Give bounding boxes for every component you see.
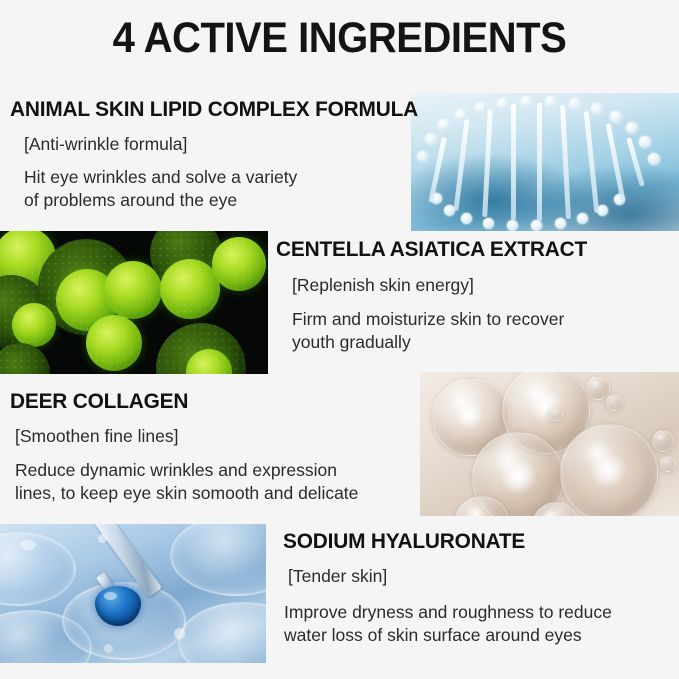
ingredient-body-4-line-1: Improve dryness and roughness to reduce bbox=[284, 601, 675, 624]
ingredient-heading-3: DEER COLLAGEN bbox=[10, 390, 408, 413]
ingredient-body-3-line-2: lines, to keep eye skin somooth and deli… bbox=[15, 482, 420, 505]
ingredient-subtitle-3: [Smoothen fine lines] bbox=[15, 427, 420, 445]
ingredient-heading-4: SODIUM HYALURONATE bbox=[283, 530, 663, 553]
ingredient-body-1-line-2: of problems around the eye bbox=[24, 189, 410, 212]
ingredient-subtitle-4: [Tender skin] bbox=[288, 567, 675, 585]
ingredient-block-4: SODIUM HYALURONATE [Tender skin] Improve… bbox=[283, 530, 675, 647]
ingredient-body-2-line-2: youth gradually bbox=[292, 331, 671, 354]
ingredient-subtitle-2: [Replenish skin energy] bbox=[292, 276, 671, 294]
blue-pipette-droplet-photo bbox=[0, 524, 266, 663]
dna-double-helix-photo bbox=[411, 93, 679, 231]
ingredient-body-1-line-1: Hit eye wrinkles and solve a variety bbox=[24, 166, 410, 189]
ingredient-heading-2: CENTELLA ASIATICA EXTRACT bbox=[276, 238, 659, 261]
ingredient-subtitle-1: [Anti-wrinkle formula] bbox=[24, 135, 410, 153]
ingredient-body-3-line-1: Reduce dynamic wrinkles and expression bbox=[15, 459, 420, 482]
ingredient-body-2-line-1: Firm and moisturize skin to recover bbox=[292, 308, 671, 331]
ingredient-block-2: CENTELLA ASIATICA EXTRACT [Replenish ski… bbox=[276, 238, 671, 354]
ingredient-body-4-line-2: water loss of skin surface around eyes bbox=[284, 624, 675, 647]
dna-helix-graphic bbox=[411, 93, 679, 231]
page-title: 4 ACTIVE INGREDIENTS bbox=[24, 14, 655, 63]
ingredient-block-3: DEER COLLAGEN [Smoothen fine lines] Redu… bbox=[10, 390, 420, 505]
infographic-page: 4 ACTIVE INGREDIENTS bbox=[0, 0, 679, 679]
ingredient-block-1: ANIMAL SKIN LIPID COMPLEX FORMULA [Anti-… bbox=[10, 98, 410, 212]
golden-bubbles-photo bbox=[420, 372, 679, 516]
green-algae-cells-photo bbox=[0, 231, 268, 374]
ingredient-heading-1: ANIMAL SKIN LIPID COMPLEX FORMULA bbox=[10, 98, 398, 121]
